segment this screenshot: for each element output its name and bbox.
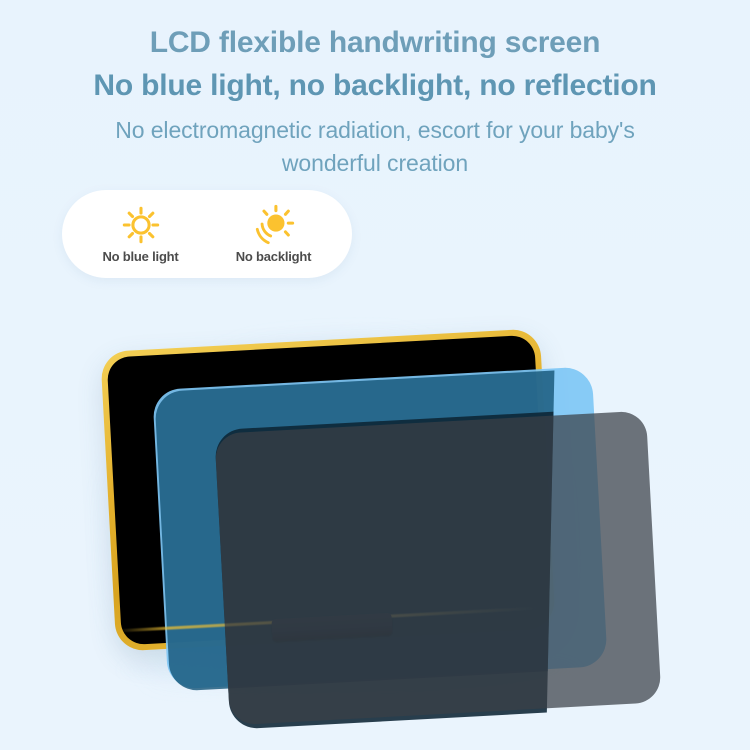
subheading: No electromagnetic radiation, escort for… <box>0 114 750 180</box>
product-image-composition <box>0 300 750 750</box>
headline-secondary: No blue light, no backlight, no reflecti… <box>0 63 750 108</box>
subheading-line-1: No electromagnetic radiation, escort for… <box>0 114 750 147</box>
sheet-grey <box>214 411 661 726</box>
feature-label-no-backlight: No backlight <box>236 249 312 264</box>
subheading-line-2: wonderful creation <box>0 147 750 180</box>
feature-badge-pill: No blue light No backlight <box>62 190 352 278</box>
sun-filled-rays-icon <box>251 204 297 246</box>
product-banner-stage: LCD flexible handwriting screen No blue … <box>0 0 750 750</box>
headline-block: LCD flexible handwriting screen No blue … <box>0 22 750 180</box>
feature-item-no-backlight: No backlight <box>211 204 337 264</box>
feature-label-no-blue-light: No blue light <box>102 249 178 264</box>
feature-item-no-blue-light: No blue light <box>78 204 204 264</box>
sun-outline-icon <box>118 204 164 246</box>
headline-primary: LCD flexible handwriting screen <box>0 22 750 63</box>
